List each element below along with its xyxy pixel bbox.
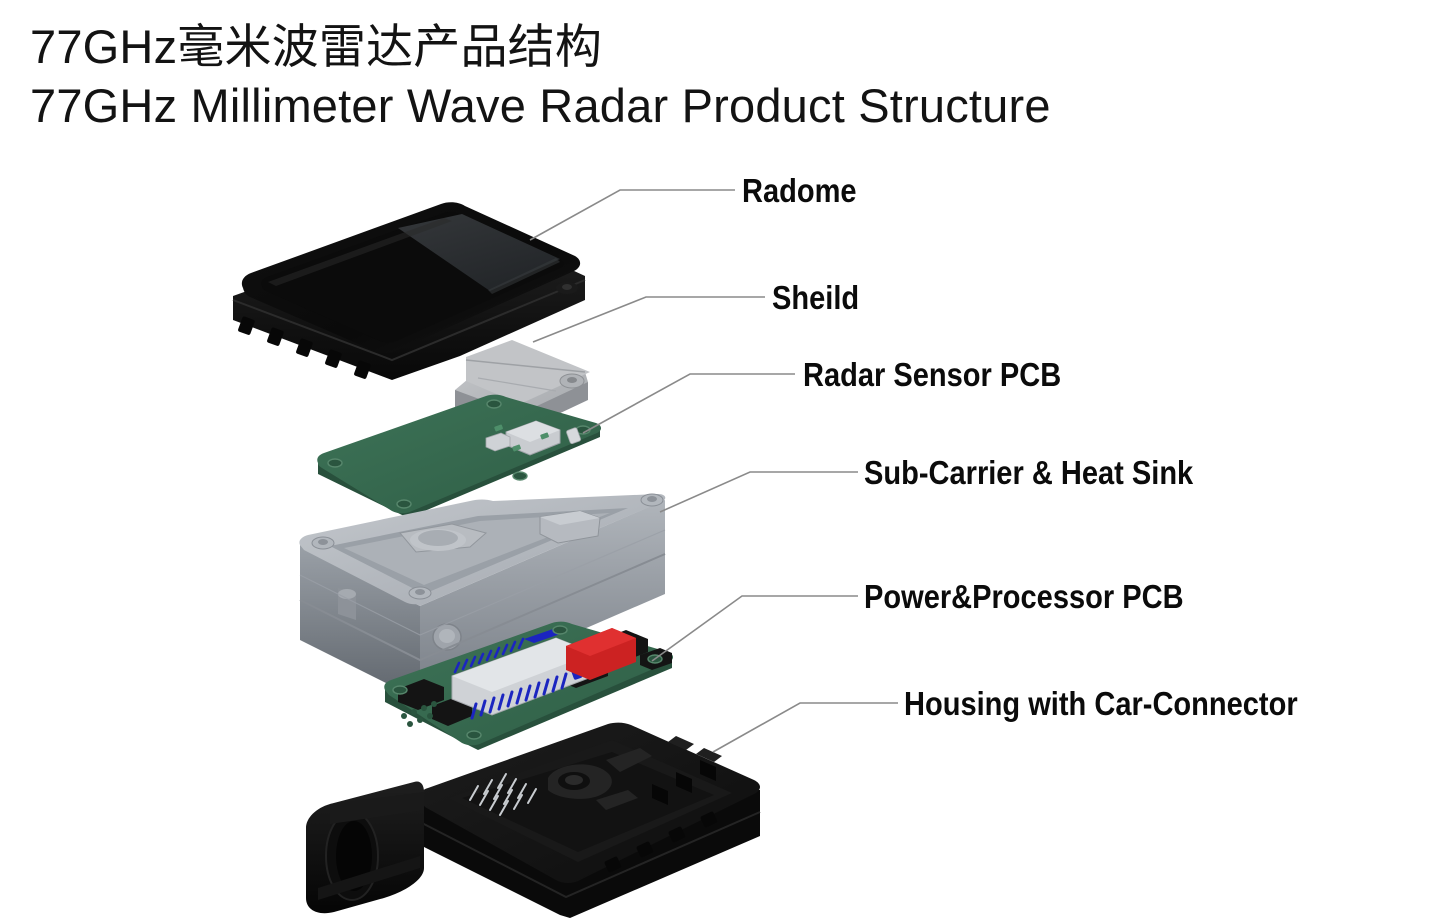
car-connector: [306, 781, 424, 913]
leader-line-power-processor-pcb: [652, 596, 858, 661]
callout-label-shield: Sheild: [772, 281, 859, 314]
exploded-radar-diagram: [0, 0, 1450, 921]
part-housing: [306, 723, 760, 918]
callout-label-radar-sensor-pcb: Radar Sensor PCB: [803, 358, 1061, 391]
callout-label-sub-carrier-heat-sink: Sub-Carrier & Heat Sink: [864, 456, 1193, 489]
leader-line-radar-sensor-pcb: [583, 374, 795, 433]
callout-label-radome: Radome: [742, 174, 857, 207]
leader-line-radome: [530, 190, 735, 240]
leader-line-sub-carrier-heat-sink: [660, 472, 858, 512]
callout-label-housing-car-connector: Housing with Car-Connector: [904, 687, 1298, 720]
callout-label-power-processor-pcb: Power&Processor PCB: [864, 580, 1184, 613]
leader-line-housing: [713, 703, 898, 752]
